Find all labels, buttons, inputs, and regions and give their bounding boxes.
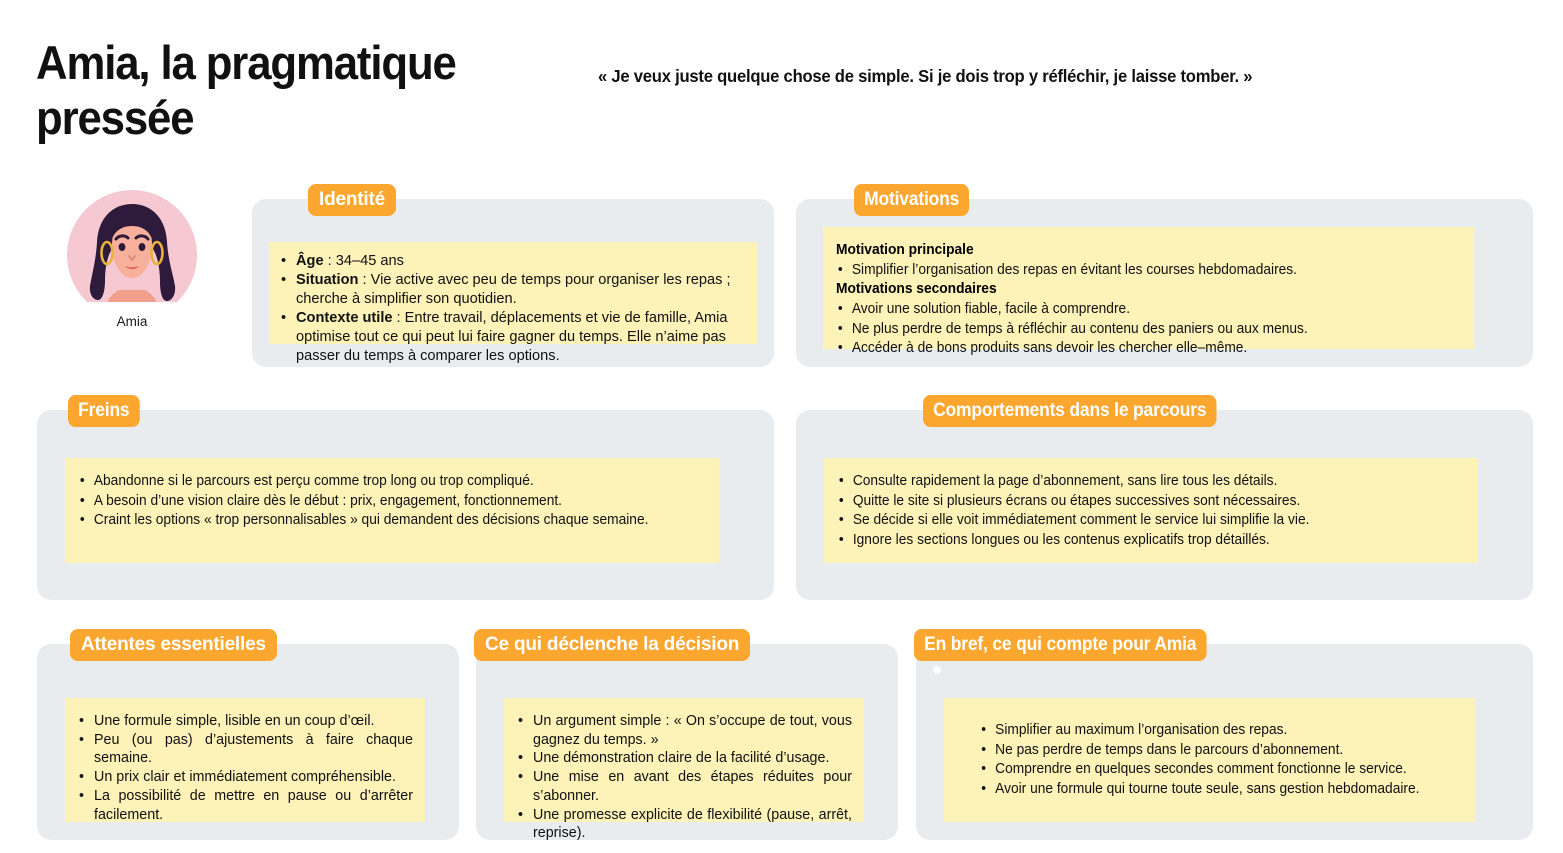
- panel-attentes: Une formule simple, lisible en un coup d…: [65, 698, 425, 822]
- list-item: Accéder à de bons produits sans devoir l…: [836, 339, 1465, 359]
- list-item: Une formule simple, lisible en un coup d…: [77, 712, 413, 731]
- list-item: Un argument simple : « On s’occupe de to…: [516, 712, 852, 749]
- list-item: Simplifier au maximum l’organisation des…: [979, 721, 1463, 741]
- card-identite: Identité Âge : 34–45 ans Situation : Vie…: [252, 199, 774, 367]
- list-item: Craint les options « trop personnalisabl…: [78, 511, 708, 531]
- item-text: : Vie active avec peu de temps pour orga…: [296, 272, 731, 307]
- list-item: Une démonstration claire de la facilité …: [516, 749, 852, 768]
- list-item: Avoir une solution fiable, facile à comp…: [836, 300, 1465, 320]
- list-item: Quitte le site si plusieurs écrans ou ét…: [837, 492, 1467, 512]
- list-item: Consulte rapidement la page d’abonnement…: [837, 472, 1467, 492]
- panel-identite: Âge : 34–45 ans Situation : Vie active a…: [269, 242, 757, 344]
- avatar: [67, 190, 197, 302]
- badge-identite: Identité: [308, 184, 396, 216]
- badge-freins: Freins: [68, 395, 140, 427]
- badge-attentes: Attentes essentielles: [70, 629, 277, 661]
- freins-list: Abandonne si le parcours est perçu comme…: [65, 458, 719, 531]
- badge-declencheurs: Ce qui déclenche la décision: [474, 629, 750, 661]
- motivations-primary-list: Simplifier l’organisation des repas en é…: [836, 261, 1465, 281]
- avatar-illustration: [67, 190, 197, 302]
- list-item: Une promesse explicite de flexibilité (p…: [516, 806, 852, 843]
- list-item: Contexte utile : Entre travail, déplacem…: [279, 309, 745, 366]
- item-lead: Contexte utile: [296, 310, 393, 326]
- card-freins: Freins Abandonne si le parcours est perç…: [37, 410, 774, 600]
- item-lead: Situation: [296, 272, 358, 288]
- card-declencheurs: Ce qui déclenche la décision Un argument…: [476, 644, 898, 840]
- persona-quote: « Je veux juste quelque chose de simple.…: [598, 66, 1453, 87]
- list-item: Se décide si elle voit immédiatement com…: [837, 511, 1467, 531]
- list-item: La possibilité de mettre en pause ou d’a…: [77, 787, 413, 824]
- panel-declencheurs: Un argument simple : « On s’occupe de to…: [504, 698, 864, 822]
- panel-freins: Abandonne si le parcours est perçu comme…: [65, 458, 719, 563]
- list-item: Ignore les sections longues ou les conte…: [837, 531, 1467, 551]
- stray-bullet-icon: [933, 666, 941, 674]
- item-lead: Âge: [296, 253, 324, 269]
- attentes-list: Une formule simple, lisible en un coup d…: [65, 698, 425, 824]
- woman-illustration-avatar-icon: [67, 190, 197, 302]
- motivations-heading-primary: Motivation principale: [836, 241, 1465, 261]
- list-item: Situation : Vie active avec peu de temps…: [279, 271, 745, 309]
- card-motivations: Motivations Motivation principale Simpli…: [796, 199, 1533, 367]
- list-item: Ne plus perdre de temps à réfléchir au c…: [836, 320, 1465, 340]
- list-item: Une mise en avant des étapes réduites po…: [516, 768, 852, 805]
- page-title: Amia, la pragmatique pressée: [36, 35, 520, 146]
- comportements-list: Consulte rapidement la page d’abonnement…: [824, 458, 1478, 551]
- list-item: Ne pas perdre de temps dans le parcours …: [979, 741, 1463, 761]
- badge-comportements: Comportements dans le parcours: [923, 395, 1217, 427]
- list-item: Simplifier l’organisation des repas en é…: [836, 261, 1465, 281]
- motivations-secondary-list: Avoir une solution fiable, facile à comp…: [836, 300, 1465, 359]
- list-item: Avoir une formule qui tourne toute seule…: [979, 780, 1463, 800]
- list-item: Abandonne si le parcours est perçu comme…: [78, 472, 708, 492]
- panel-motivations: Motivation principale Simplifier l’organ…: [823, 227, 1474, 349]
- panel-enbref: Simplifier au maximum l’organisation des…: [944, 698, 1475, 822]
- enbref-list: Simplifier au maximum l’organisation des…: [944, 698, 1475, 800]
- list-item: Comprendre en quelques secondes comment …: [979, 760, 1463, 780]
- badge-motivations: Motivations: [854, 184, 969, 216]
- list-item: Peu (ou pas) d’ajustements à faire chaqu…: [77, 731, 413, 768]
- card-attentes: Attentes essentielles Une formule simple…: [37, 644, 459, 840]
- identite-list: Âge : 34–45 ans Situation : Vie active a…: [269, 242, 757, 366]
- card-comportements: Comportements dans le parcours Consulte …: [796, 410, 1533, 600]
- item-text: : 34–45 ans: [324, 253, 404, 269]
- declencheurs-list: Un argument simple : « On s’occupe de to…: [504, 698, 864, 843]
- list-item: Un prix clair et immédiatement compréhen…: [77, 768, 413, 787]
- badge-enbref: En bref, ce qui compte pour Amia: [914, 629, 1206, 661]
- motivations-content: Motivation principale Simplifier l’organ…: [823, 227, 1474, 359]
- avatar-block: Amia: [67, 190, 197, 329]
- list-item: Âge : 34–45 ans: [279, 252, 745, 271]
- panel-comportements: Consulte rapidement la page d’abonnement…: [824, 458, 1478, 563]
- motivations-heading-secondary: Motivations secondaires: [836, 280, 1465, 300]
- card-enbref: En bref, ce qui compte pour Amia Simplif…: [916, 644, 1533, 840]
- avatar-label: Amia: [67, 314, 197, 329]
- persona-sheet: Amia, la pragmatique pressée « Je veux j…: [0, 0, 1563, 853]
- list-item: A besoin d’une vision claire dès le débu…: [78, 492, 708, 512]
